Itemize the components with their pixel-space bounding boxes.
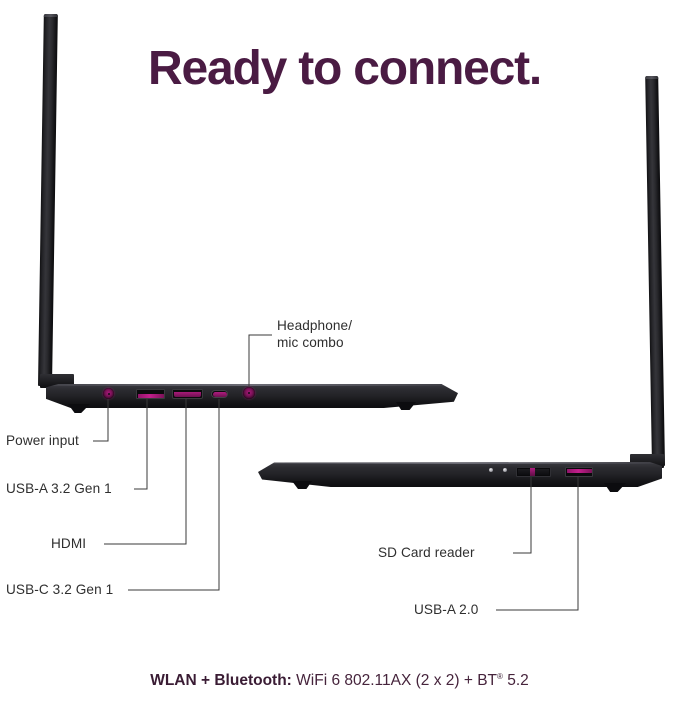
- usb-c-32-gen1-port[interactable]: [211, 390, 228, 398]
- hdmi-port[interactable]: [172, 389, 203, 399]
- leader-usb-a-20: [496, 477, 578, 610]
- callout-label-usb-c-32-gen1: USB-C 3.2 Gen 1: [6, 582, 113, 599]
- usb-a-tongue: [138, 394, 164, 398]
- callout-headphone-line2: mic combo: [277, 335, 344, 350]
- chassis-foot-left-2: [292, 481, 312, 489]
- usb-a-20-tongue: [567, 469, 592, 473]
- laptop-chassis-base-2: [258, 462, 662, 487]
- wlan-spec-value-b: 5.2: [503, 672, 529, 689]
- callout-label-headphone-mic-combo: Headphone/ mic combo: [277, 318, 407, 351]
- usb-c-inner: [213, 392, 227, 397]
- leader-usb-a-32: [134, 399, 147, 489]
- chassis-top-highlight: [46, 384, 458, 386]
- chassis-foot-right: [396, 402, 416, 410]
- callout-label-usb-a-32-gen1: USB-A 3.2 Gen 1: [6, 481, 112, 498]
- power-port-pin: [108, 393, 110, 395]
- power-led: [489, 468, 493, 472]
- laptop-screen-lid-2: [645, 76, 665, 466]
- callout-label-hdmi: HDMI: [51, 536, 86, 553]
- callout-headphone-line1: Headphone/: [277, 318, 352, 333]
- headphone-port-pin: [248, 392, 250, 394]
- hdmi-inner: [174, 392, 201, 397]
- leader-usb-c-32: [128, 399, 219, 590]
- product-feature-graphic: Ready to connect.: [0, 0, 679, 702]
- status-led: [503, 468, 507, 472]
- laptop-screen-lid: [38, 14, 58, 386]
- leader-hdmi: [104, 399, 186, 544]
- sd-accent: [530, 468, 535, 476]
- wlan-spec-label: WLAN + Bluetooth:: [150, 672, 292, 689]
- chassis-foot-left: [68, 404, 90, 413]
- wlan-spec-value-a: WiFi 6 802.11AX (2 x 2) + BT: [296, 672, 497, 689]
- callout-label-sd-card-reader: SD Card reader: [378, 545, 475, 562]
- callout-label-power-input: Power input: [6, 433, 79, 450]
- chassis-foot-right-2: [604, 483, 626, 492]
- leader-headphone: [249, 335, 272, 387]
- chassis-top-highlight-2: [258, 462, 662, 464]
- sd-card-reader-port[interactable]: [516, 467, 551, 477]
- page-title: Ready to connect.: [148, 41, 541, 96]
- usb-a-20-port[interactable]: [565, 467, 593, 477]
- usb-a-32-gen1-port[interactable]: [136, 389, 165, 399]
- callout-label-usb-a-20: USB-A 2.0: [414, 602, 478, 619]
- headphone-mic-combo-port[interactable]: [243, 387, 255, 399]
- wlan-bluetooth-spec: WLAN + Bluetooth: WiFi 6 802.11AX (2 x 2…: [0, 672, 679, 690]
- power-input-port[interactable]: [103, 388, 114, 399]
- leader-sd-card: [513, 477, 531, 553]
